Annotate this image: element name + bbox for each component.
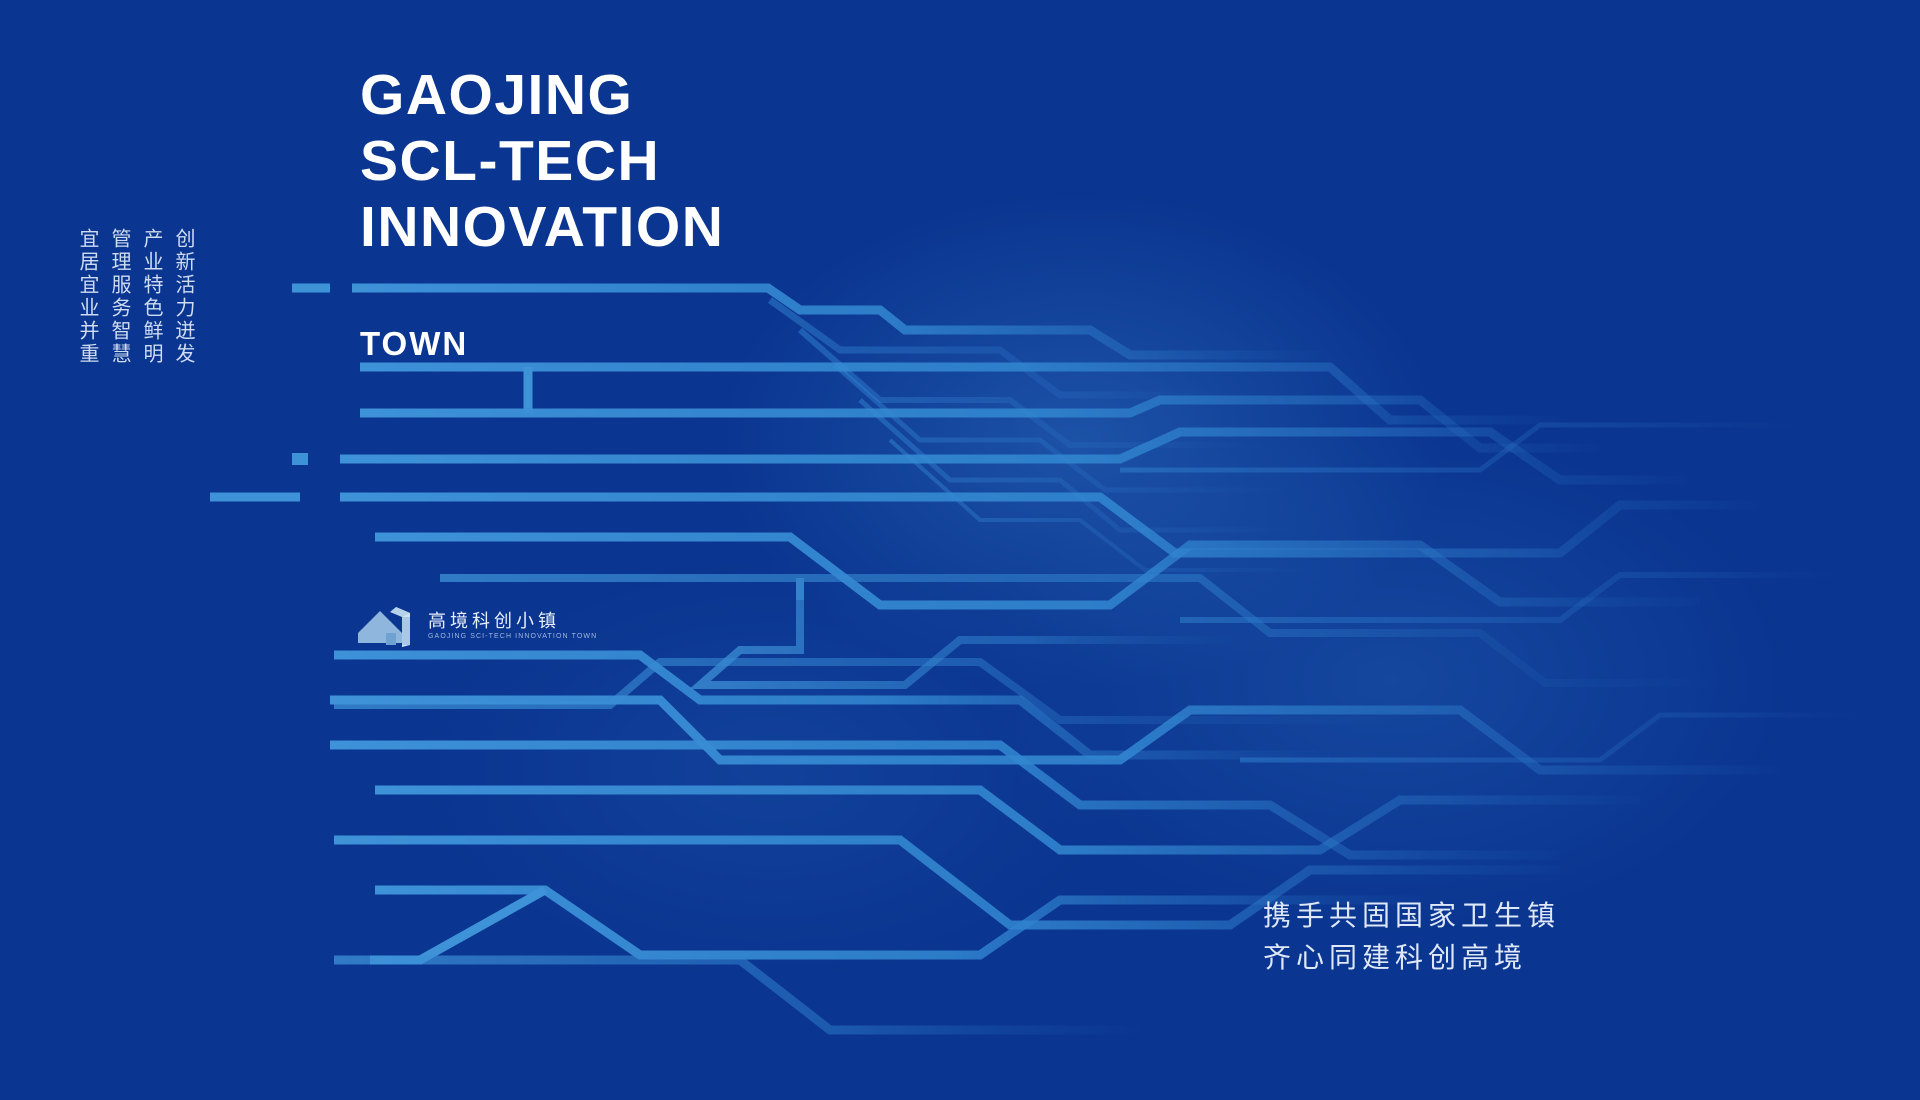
- slogan-line-1: 携手共固国家卫生镇: [1263, 895, 1560, 937]
- campaign-slogan: 携手共固国家卫生镇 齐心同建科创高境: [1263, 895, 1560, 979]
- title-line-3: INNOVATION: [360, 194, 724, 260]
- logo-english-name: GAOJING SCI-TECH INNOVATION TOWN: [428, 633, 597, 640]
- poster-canvas: GAOJING SCL-TECH INNOVATION TOWN 创新活力迸发 …: [0, 0, 1920, 1100]
- page-title: GAOJING SCL-TECH INNOVATION: [360, 62, 724, 260]
- vertical-slogan-column-3: 管理服务智慧: [110, 228, 130, 366]
- logo-chinese-name: 高境科创小镇: [428, 613, 597, 631]
- vertical-slogan-block: 创新活力迸发 产业特色鲜明 管理服务智慧 宜居宜业并重: [78, 228, 194, 366]
- slogan-line-2: 齐心同建科创高境: [1263, 937, 1560, 979]
- title-subtitle: TOWN: [360, 325, 468, 363]
- house-building-icon: [356, 603, 418, 649]
- vertical-slogan-column-2: 产业特色鲜明: [142, 228, 162, 366]
- title-line-2: SCL-TECH: [360, 128, 724, 194]
- logo-lockup: 高境科创小镇 GAOJING SCI-TECH INNOVATION TOWN: [356, 603, 597, 649]
- title-line-1: GAOJING: [360, 62, 724, 128]
- vertical-slogan-column-1: 创新活力迸发: [174, 228, 194, 366]
- circuit-pattern-graphic: [0, 0, 1920, 1100]
- vertical-slogan-column-4: 宜居宜业并重: [78, 228, 98, 366]
